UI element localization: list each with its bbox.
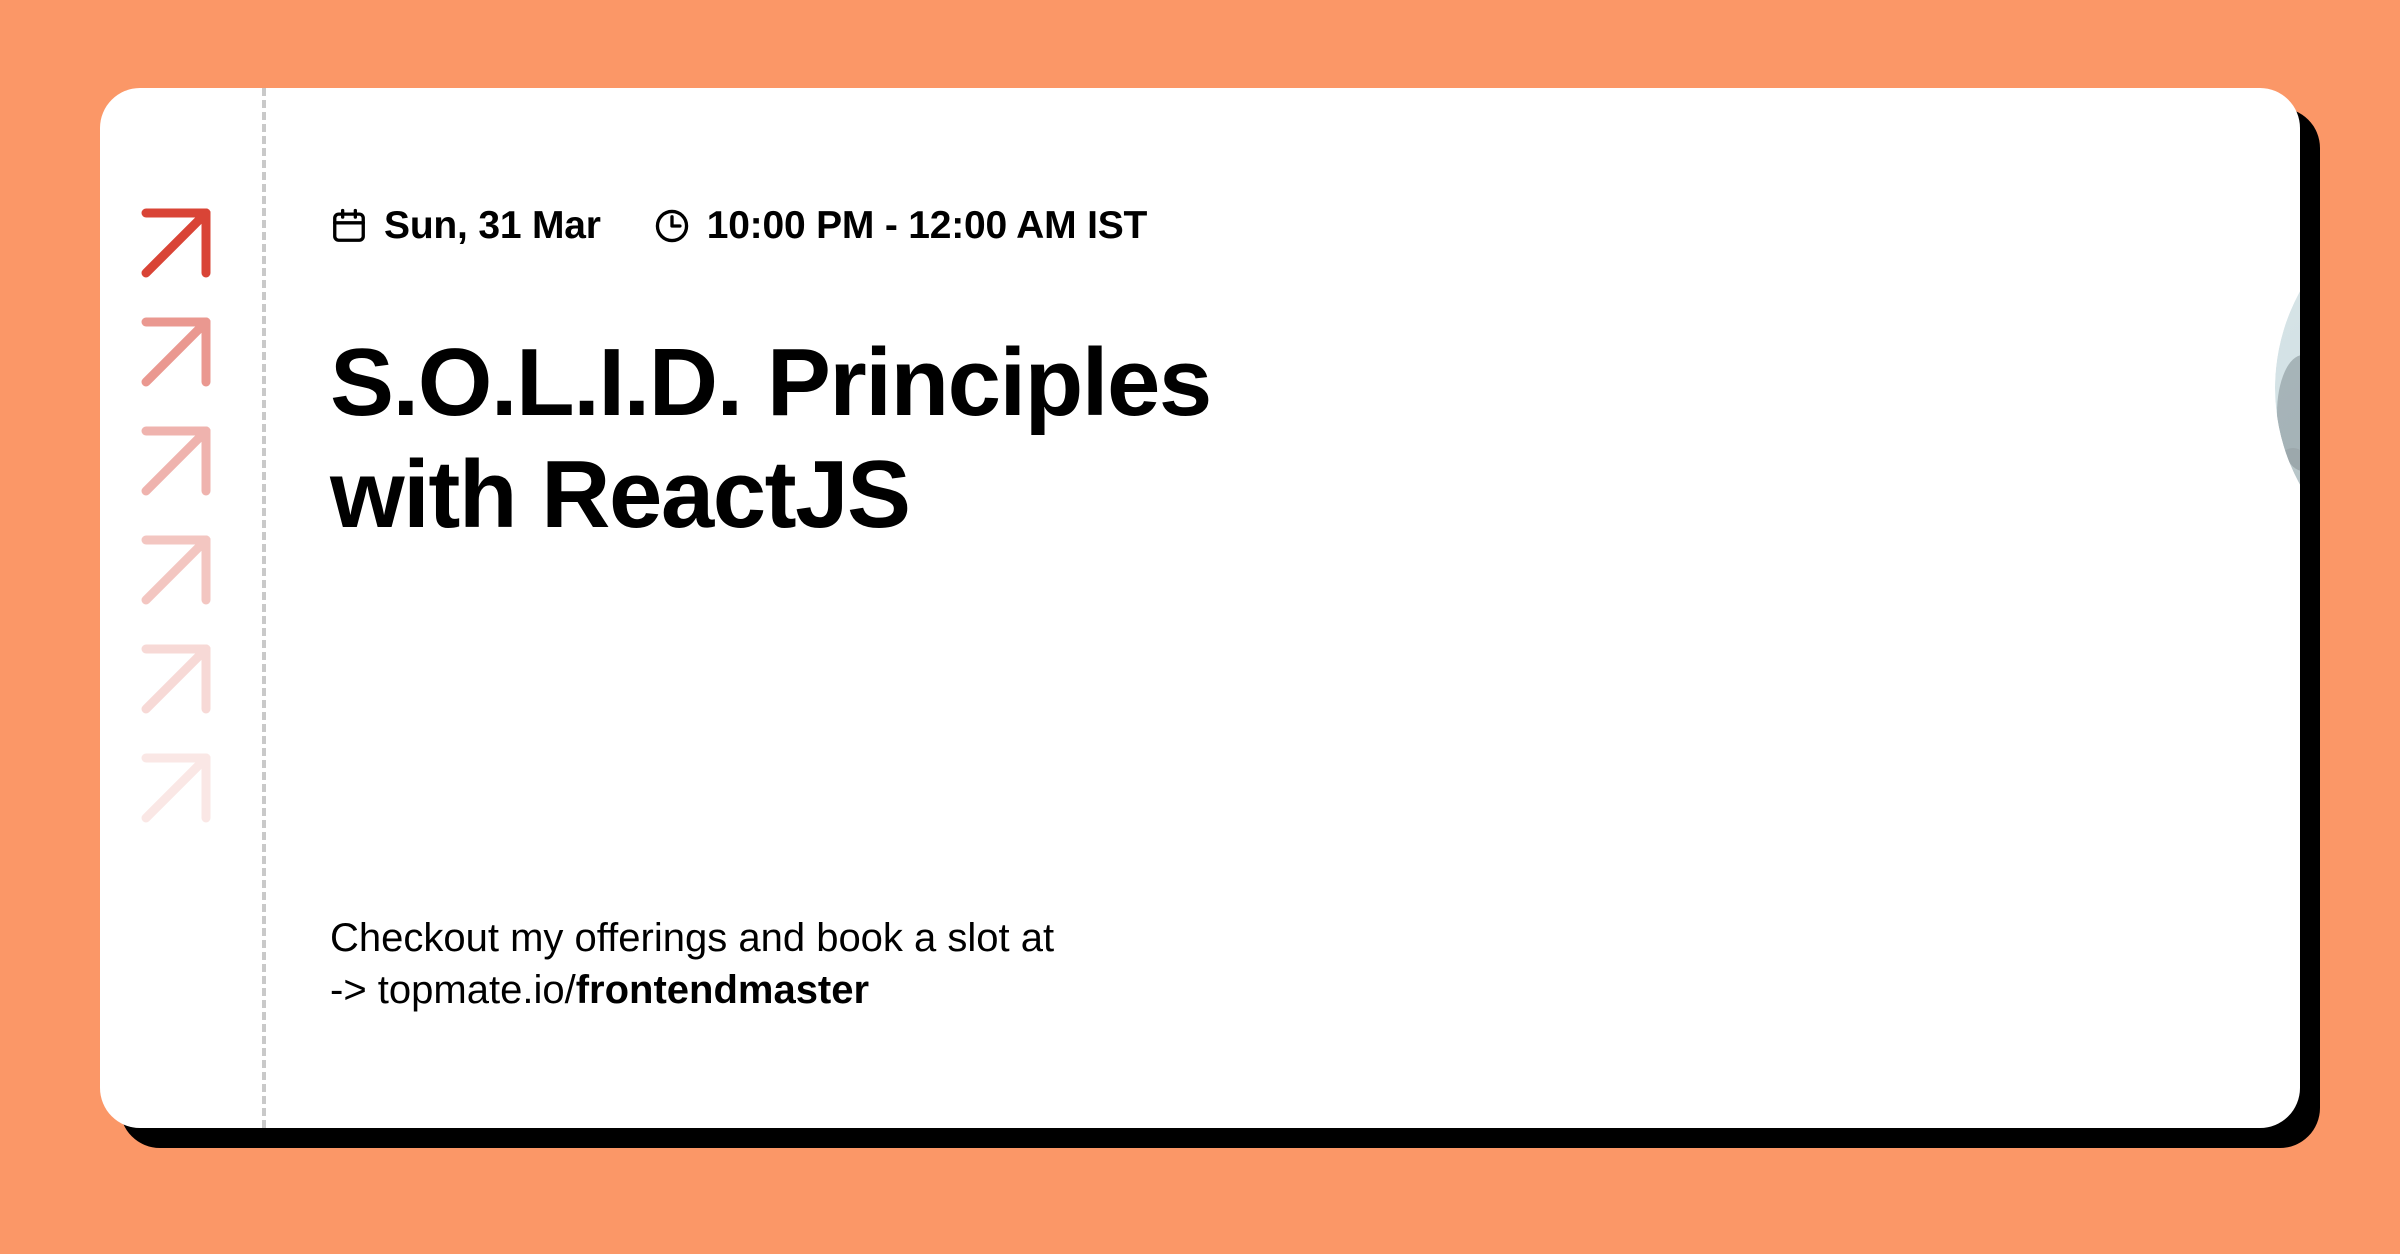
event-title-line-1: S.O.L.I.D. Principles [330,329,1211,436]
event-meta-row: Sun, 31 Mar 10:00 PM - 12:00 AM IST [330,206,1147,245]
calendar-icon [330,207,368,245]
event-time: 10:00 PM - 12:00 AM IST [653,206,1147,245]
event-card: Sun, 31 Mar 10:00 PM - 12:00 AM IST S.O.… [100,88,2300,1128]
event-date-label: Sun, 31 Mar [384,206,601,245]
arrow-up-right-icon [138,423,214,499]
arrow-rail [100,88,262,1128]
event-title-line-2: with ReactJS [330,441,910,548]
clock-icon [653,207,691,245]
arrow-up-right-icon [138,314,214,390]
footer-line-1: Checkout my offerings and book a slot at [330,912,1054,964]
arrow-up-right-icon [138,205,214,281]
event-time-label: 10:00 PM - 12:00 AM IST [707,206,1147,245]
footer-link-handle: frontendmaster [576,968,869,1012]
card-content: Sun, 31 Mar 10:00 PM - 12:00 AM IST S.O.… [330,88,2300,1128]
footer-line-2: -> topmate.io/frontendmaster [330,964,1054,1016]
arrow-up-right-icon [138,641,214,717]
event-date: Sun, 31 Mar [330,206,601,245]
footer-link-prefix: -> topmate.io/ [330,968,576,1012]
event-card-canvas: Sun, 31 Mar 10:00 PM - 12:00 AM IST S.O.… [0,0,2400,1254]
arrow-up-right-icon [138,532,214,608]
perforation-divider [262,88,266,1128]
avatar [2275,188,2300,588]
footer-cta: Checkout my offerings and book a slot at… [330,912,1054,1016]
arrow-up-right-icon [138,750,214,826]
page-title: S.O.L.I.D. Principles with ReactJS [330,327,1620,550]
